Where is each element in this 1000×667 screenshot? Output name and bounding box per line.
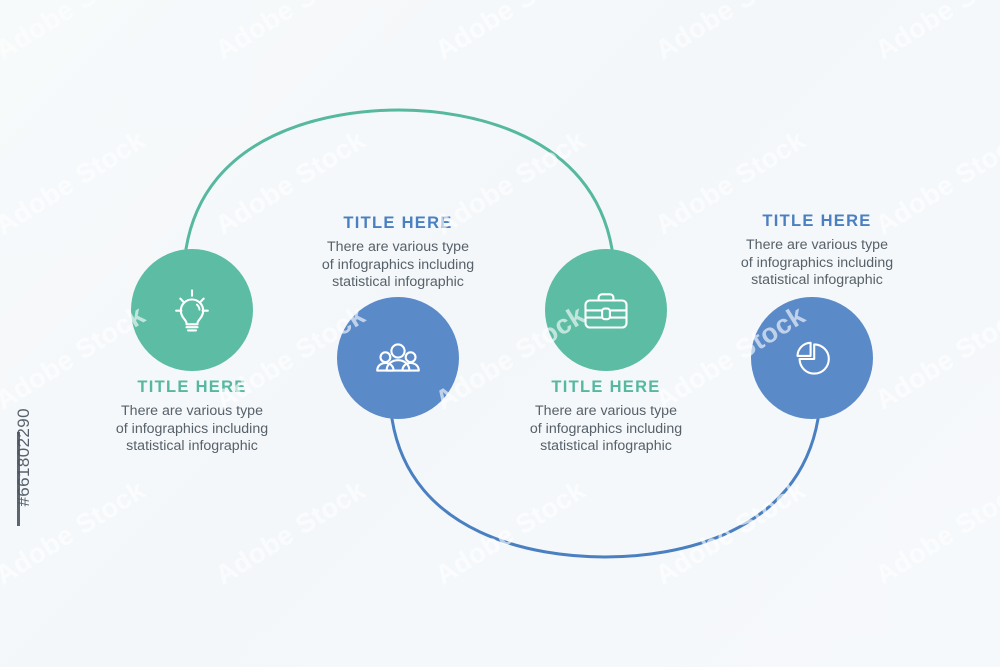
- briefcase-icon: [573, 277, 639, 343]
- step-text-3: TITLE HERE There are various type of inf…: [491, 378, 721, 456]
- step-body-3: There are various type of infographics i…: [491, 403, 721, 456]
- step-title-1: TITLE HERE: [77, 378, 307, 397]
- step-body-1: There are various type of infographics i…: [77, 403, 307, 456]
- people-group-icon: [366, 326, 430, 390]
- lightbulb-icon: [161, 279, 223, 341]
- step-circle-3[interactable]: [545, 249, 667, 371]
- step-body-2: There are various type of infographics i…: [283, 239, 513, 292]
- step-text-1: TITLE HERE There are various type of inf…: [77, 378, 307, 456]
- step-circle-2[interactable]: [337, 297, 459, 419]
- step-text-2: TITLE HERE There are various type of inf…: [283, 214, 513, 292]
- step-title-4: TITLE HERE: [702, 212, 932, 231]
- step-circle-1[interactable]: [131, 249, 253, 371]
- infographic-canvas: TITLE HERE There are various type of inf…: [0, 0, 1000, 667]
- step-text-4: TITLE HERE There are various type of inf…: [702, 212, 932, 290]
- step-title-3: TITLE HERE: [491, 378, 721, 397]
- step-title-2: TITLE HERE: [283, 214, 513, 233]
- pie-chart-icon: [781, 327, 843, 389]
- step-circle-4[interactable]: [751, 297, 873, 419]
- step-body-4: There are various type of infographics i…: [702, 237, 932, 290]
